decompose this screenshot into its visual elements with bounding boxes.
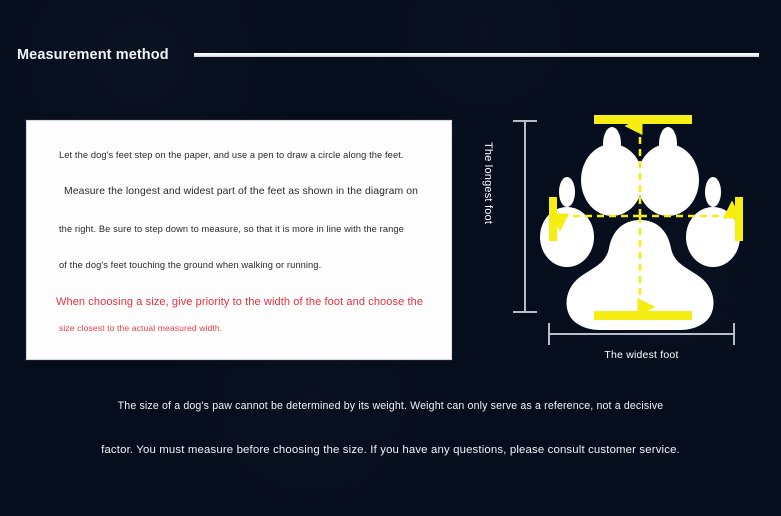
instruction-highlight-line-1: When choosing a size, give priority to t… xyxy=(56,297,435,308)
header-divider-line xyxy=(194,53,759,57)
footer-line-2: factor. You must measure before choosing… xyxy=(0,444,781,456)
instruction-line-1: Let the dog's feet step on the paper, an… xyxy=(59,151,435,160)
instruction-highlight-line-2: size closest to the actual measured widt… xyxy=(59,324,435,333)
widest-foot-label: The widest foot xyxy=(548,349,735,361)
instruction-card: Let the dog's feet step on the paper, an… xyxy=(26,120,452,360)
widest-foot-ruler xyxy=(548,333,735,335)
page-title: Measurement method xyxy=(17,47,169,63)
paw-measurement-diagram: The longest foot xyxy=(470,90,770,380)
page-header: Measurement method xyxy=(0,41,781,69)
instruction-line-2: Measure the longest and widest part of t… xyxy=(64,187,435,197)
footer-note: The size of a dog's paw cannot be determ… xyxy=(0,400,781,456)
measurement-arrows xyxy=(470,90,770,380)
footer-line-1: The size of a dog's paw cannot be determ… xyxy=(0,400,781,412)
instruction-line-4: of the dog's feet touching the ground wh… xyxy=(59,261,435,270)
instruction-line-3: the right. Be sure to step down to measu… xyxy=(59,225,435,234)
